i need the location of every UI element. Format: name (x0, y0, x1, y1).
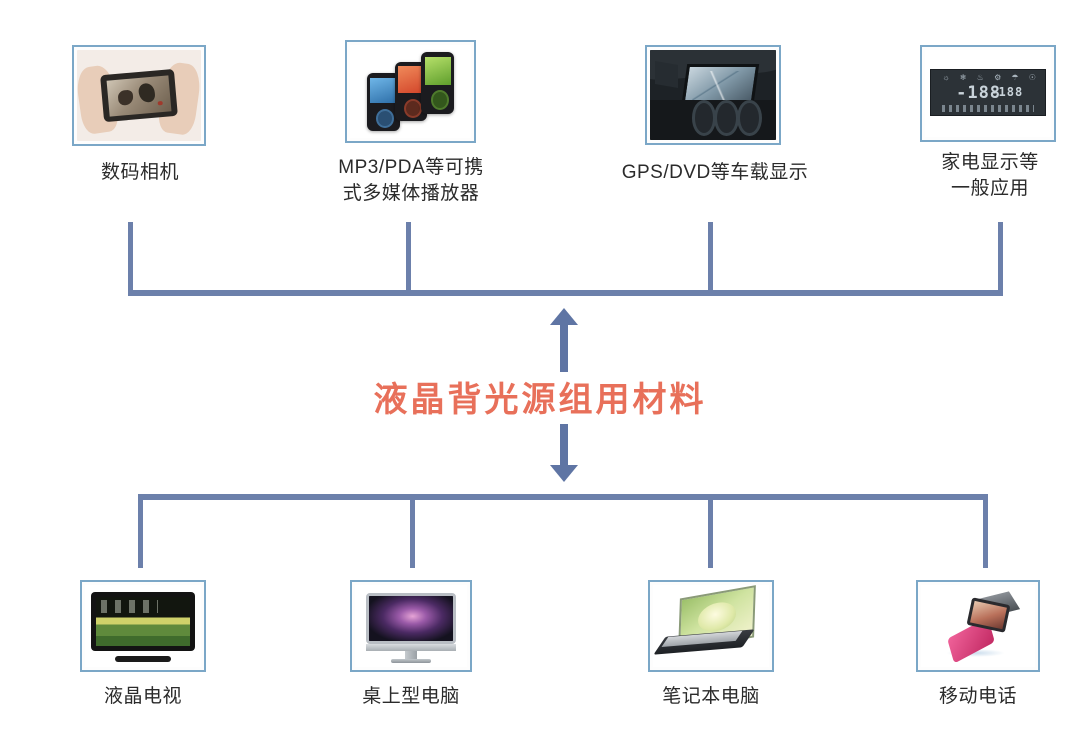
lcd-television-photo (85, 585, 201, 667)
image-frame-desktop-computer (350, 580, 472, 672)
arrow-up-icon (550, 308, 578, 372)
image-frame-car-display (645, 45, 781, 145)
digital-camera-photo (77, 50, 201, 141)
label-appliance-display: 家电显示等 一般应用 (900, 150, 1080, 201)
bottom-stem-notebook (708, 498, 713, 568)
top-stem-media-player (406, 222, 411, 292)
image-frame-notebook-computer (648, 580, 774, 672)
label-mobile-phone: 移动电话 (878, 684, 1078, 710)
image-frame-appliance-display: ☼❄♨ ⚙☂☉ -188 -188 (920, 45, 1056, 142)
label-car-display: GPS/DVD等车载显示 (570, 160, 860, 186)
top-stem-appliance-display (998, 222, 1003, 292)
label-notebook-computer: 笔记本电脑 (611, 684, 811, 710)
arrow-down-icon (550, 424, 578, 482)
notebook-computer-photo (653, 585, 769, 667)
top-bracket-bar (128, 290, 1003, 296)
lcd-secondary-reading: -188 (990, 85, 1023, 99)
bottom-stem-mobile-phone (983, 498, 988, 568)
top-stem-car-display (708, 222, 713, 292)
image-frame-digital-camera (72, 45, 206, 146)
portable-media-player-photo (350, 45, 471, 138)
image-frame-lcd-tv (80, 580, 206, 672)
label-lcd-tv: 液晶电视 (43, 684, 243, 710)
diagram-canvas: ☼❄♨ ⚙☂☉ -188 -188 数码相机 MP3/PDA等可携 式多媒体播放… (0, 0, 1080, 735)
center-title: 液晶背光源组用材料 (0, 372, 1080, 421)
label-media-player: MP3/PDA等可携 式多媒体播放器 (300, 155, 522, 206)
label-digital-camera: 数码相机 (10, 160, 270, 186)
mobile-phone-photo (921, 585, 1035, 667)
bottom-bracket-bar (138, 494, 988, 500)
label-desktop-computer: 桌上型电脑 (311, 684, 511, 710)
image-frame-media-player (345, 40, 476, 143)
top-stem-digital-camera (128, 222, 133, 292)
desktop-computer-photo (355, 585, 467, 667)
image-frame-mobile-phone (916, 580, 1040, 672)
bottom-stem-lcd-tv (138, 498, 143, 568)
car-navigation-display-photo (650, 50, 776, 140)
appliance-lcd-panel-photo: ☼❄♨ ⚙☂☉ -188 -188 (925, 50, 1051, 137)
bottom-stem-desktop (410, 498, 415, 568)
